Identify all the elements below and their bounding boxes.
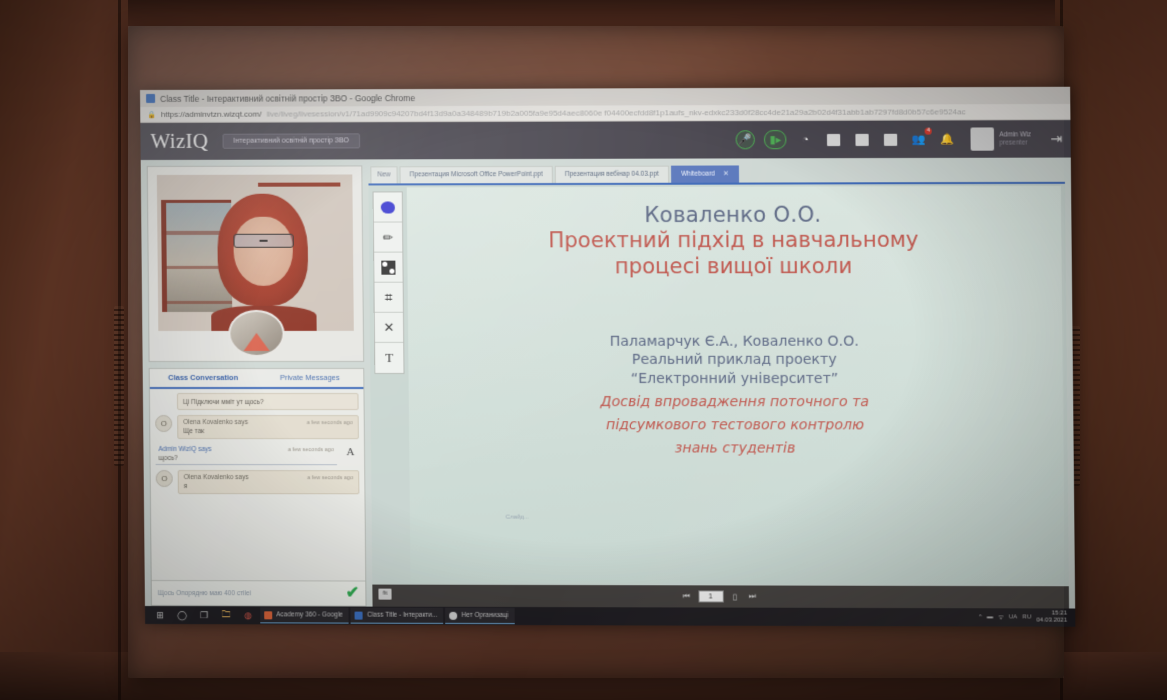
clock-time: 15:21 — [1036, 610, 1067, 617]
last-slide-icon[interactable]: ⏭ — [747, 592, 758, 602]
slide-canvas[interactable]: Коваленко О.О. Проектний підхід в навчал… — [407, 186, 1065, 584]
fit-screen-button[interactable]: fit — [378, 589, 391, 600]
monitor-bezel: Class Title - Інтерактивний освітній про… — [128, 26, 1064, 678]
wall-left — [0, 0, 128, 700]
slide-title-line1: Проектний підхід в навчальному — [407, 226, 1061, 254]
screen-share-icon[interactable] — [881, 130, 901, 149]
windows-taskbar: ⊞ ◯ ❐ 🗀 ◍ Academy 360 - Google Class Tit… — [145, 606, 1075, 627]
tab-whiteboard[interactable]: Whiteboard ✕ — [671, 165, 739, 182]
chat-bubble: Цi Пiдключи ммiт ут щось? — [177, 393, 359, 410]
wall-top — [0, 0, 1167, 28]
slide-title-block: Коваленко О.О. Проектний підхід в навчал… — [407, 202, 1062, 280]
exit-icon[interactable]: ⇥ — [1050, 130, 1062, 147]
delete-tool-icon[interactable]: ✕ — [375, 313, 403, 343]
whiteboard-tabs: New Презентация Microsoft Office PowerPo… — [368, 164, 1065, 186]
chrome-icon — [264, 611, 272, 619]
wiziq-logo[interactable]: WizIQ — [150, 129, 208, 154]
chat-bubble: Olena Kovalenko says a few seconds ago Щ… — [177, 415, 359, 439]
chat-timestamp: a few seconds ago — [288, 447, 334, 453]
microphone-icon[interactable]: 🎤 — [736, 130, 755, 149]
whiteboard-stage[interactable]: ✎ ⌗ ✕ T Коваленко О.О. Проектний підхід … — [369, 184, 1070, 609]
layout-icon[interactable] — [853, 130, 873, 149]
next-slide-icon[interactable]: ▯ — [729, 592, 740, 601]
presentation-icon[interactable] — [824, 130, 843, 149]
chat-author: Admin WizIQ says — [158, 446, 211, 453]
file-explorer-icon[interactable]: 🗀 — [215, 606, 237, 624]
slide-sub-line2: Реальний приклад проекту — [408, 351, 1062, 370]
taskbar-spacer — [515, 616, 979, 617]
taskbar-window-label: Class Title - Інтеракти... — [367, 612, 437, 619]
chat-tabs: Class Conversation Private Messages — [150, 369, 364, 389]
fill-color-tool-icon[interactable] — [374, 253, 402, 283]
class-title-badge: Інтерактивний освітній простір ЗВО — [222, 133, 360, 148]
avatar: O — [155, 415, 172, 432]
wiziq-icon — [355, 611, 363, 619]
chat-text: щось? — [159, 455, 334, 462]
crop-tool-icon[interactable]: ⌗ — [374, 283, 402, 313]
app-body: Class Conversation Private Messages Цi П… — [141, 158, 1076, 609]
taskbar-window-academy[interactable]: Academy 360 - Google — [260, 607, 349, 623]
presenter-webcam-panel[interactable] — [147, 165, 364, 362]
chat-author: Olena Kovalenko says — [183, 419, 248, 426]
green-check-icon[interactable]: ✔ — [346, 585, 360, 601]
user-info: Admin Wiz presenter — [999, 131, 1031, 147]
browser-window-title: Class Title - Інтерактивний освітній про… — [160, 93, 415, 104]
presenter-glasses — [234, 234, 295, 248]
slide-sub-line3: “Електронний університет” — [409, 370, 1063, 389]
tray-expand-icon[interactable]: ^ — [979, 614, 982, 620]
taskbar-clock[interactable]: 15:21 04.03.2021 — [1036, 610, 1067, 624]
app-toolbar: 🎤 ▮▸ ◔ 👥 4 🔔 Admin Wiz — [736, 120, 1063, 158]
avatar: A — [342, 444, 359, 461]
lock-icon: 🔒 — [147, 110, 156, 118]
taskbar-window-class[interactable]: Class Title - Інтеракти... — [351, 608, 444, 624]
user-name: Admin Wiz — [999, 131, 1031, 139]
clock-date: 04.03.2021 — [1036, 618, 1067, 625]
slide-author-top: Коваленко О.О. — [407, 202, 1061, 227]
chat-timestamp: a few seconds ago — [307, 475, 353, 481]
list-item: O Olena Kovalenko says a few seconds ago… — [155, 415, 359, 439]
chat-timestamp: a few seconds ago — [307, 420, 353, 426]
list-item: Admin WizIQ says a few seconds ago щось?… — [155, 444, 359, 465]
chrome-icon[interactable]: ◍ — [237, 606, 259, 624]
tab-presentation-ppt[interactable]: Презентация Microsoft Office PowerPoint.… — [400, 166, 553, 183]
list-item: Цi Пiдключи ммiт ут щось? — [155, 393, 359, 410]
volume-icon[interactable]: ᯤ — [998, 613, 1004, 621]
browser-favicon — [146, 94, 155, 103]
self-avatar-thumbnail[interactable] — [228, 310, 285, 357]
whiteboard-column: New Презентация Microsoft Office PowerPo… — [368, 164, 1069, 609]
shape-tool-icon[interactable] — [374, 192, 402, 222]
wiziq-app: WizIQ Інтерактивний освітній простір ЗВО… — [140, 120, 1075, 608]
app-header: WizIQ Інтерактивний освітній простір ЗВО… — [140, 120, 1070, 160]
speaker-grille-left — [114, 306, 124, 466]
monitor-screen: Class Title - Інтерактивний освітній про… — [140, 87, 1075, 627]
chat-panel: Class Conversation Private Messages Цi П… — [149, 368, 367, 607]
chat-text: я — [184, 483, 354, 490]
chat-bubble-header: Olena Kovalenko says a few seconds ago — [183, 419, 353, 426]
attendees-badge: 4 — [925, 128, 932, 135]
tab-private-messages[interactable]: Private Messages — [256, 369, 363, 387]
avatar — [971, 127, 995, 150]
webcam-video — [157, 174, 354, 331]
avatar: O — [156, 470, 173, 487]
slide-italic-line2: підсумкового тестового контролю — [409, 416, 1063, 435]
system-tray: ^ ▬ ᯤ UA RU 15:21 04.03.2021 — [979, 610, 1071, 624]
tab-new[interactable]: New — [370, 166, 397, 183]
tab-class-conversation[interactable]: Class Conversation — [150, 369, 257, 387]
taskbar-window-label: Academy 360 - Google — [276, 611, 343, 618]
slide-italic-line3: знань студентів — [409, 439, 1063, 459]
address-url-path: live/liveg/livesession/v1/71ad9909c94207… — [267, 107, 966, 118]
chat-input[interactable]: Щось Опорядню маю 400 стilеi — [158, 590, 251, 597]
chat-bubble-header: Admin WizIQ says a few seconds ago — [158, 446, 333, 453]
input-language[interactable]: RU — [1022, 614, 1031, 620]
user-role: presenter — [999, 139, 1031, 147]
tab-webinar-ppt[interactable]: Презентация вебінар 04.03.ppt — [555, 166, 669, 183]
tab-whiteboard-label: Whiteboard — [681, 170, 715, 180]
chat-composer: Щось Опорядню маю 400 стilеi ✔ — [152, 580, 366, 606]
slide-italic-line1: Досвід впровадження поточного та — [409, 393, 1063, 412]
chat-text: Цi Пiдключи ммiт ут щось? — [183, 399, 353, 406]
language-indicator[interactable]: UA — [1009, 614, 1018, 620]
windows-start-icon[interactable]: ⊞ — [149, 606, 171, 624]
taskbar-window-label: Нет Организаці — [462, 612, 509, 619]
chat-author: Olena Kovalenko says — [184, 474, 249, 481]
webcam-shelf — [258, 182, 340, 186]
chat-bubble: Admin WizIQ says a few seconds ago щось? — [155, 444, 337, 465]
chat-bubble: Olena Kovalenko says a few seconds ago я — [178, 470, 360, 494]
chat-bubble-header: Olena Kovalenko says a few seconds ago — [184, 474, 354, 481]
slide-sub-line1: Паламарчук Є.А., Коваленко О.О. — [408, 332, 1062, 351]
list-item: O Olena Kovalenko says a few seconds ago… — [156, 470, 360, 494]
slide-subtitle-block: Паламарчук Є.А., Коваленко О.О. Реальний… — [408, 332, 1063, 459]
network-icon[interactable]: ▬ — [987, 614, 993, 620]
task-view-icon[interactable]: ❐ — [193, 606, 215, 624]
chat-message-list[interactable]: Цi Пiдключи ммiт ут щось? O Olena Kovale… — [150, 389, 365, 581]
search-icon[interactable]: ◯ — [171, 606, 193, 624]
camera-icon[interactable]: ▮▸ — [764, 130, 787, 149]
left-column: Class Conversation Private Messages Цi П… — [147, 165, 367, 606]
slide-title-line2: процесі вищої школи — [407, 253, 1061, 280]
whiteboard-toolbar: ✎ ⌗ ✕ T — [373, 191, 405, 374]
presenter-face — [233, 217, 292, 286]
room-photo: Class Title - Інтерактивний освітній про… — [0, 0, 1167, 700]
attendees-icon[interactable]: 👥 4 — [910, 130, 930, 149]
close-icon[interactable]: ✕ — [723, 170, 729, 180]
user-chip[interactable]: Admin Wiz presenter — [971, 127, 1032, 150]
slide-watermark: Слайд... — [506, 515, 529, 521]
first-slide-icon[interactable]: ⏮ — [681, 591, 692, 601]
text-tool-icon[interactable]: T — [375, 343, 403, 373]
bell-icon[interactable]: 🔔 — [938, 130, 958, 149]
pencil-tool-icon[interactable]: ✎ — [374, 223, 402, 253]
address-url: https://adminvtzn.wizqt.com/ — [161, 110, 262, 119]
slide-navigation-bar: fit ⏮ 1 ▯ ⏭ — [372, 585, 1069, 609]
taskbar-window-other[interactable]: Нет Организаці — [445, 608, 514, 624]
app-icon — [449, 611, 457, 619]
record-icon[interactable]: ◔ — [796, 130, 815, 149]
chat-text: Ще так — [183, 428, 353, 435]
page-number-input[interactable]: 1 — [698, 590, 723, 602]
